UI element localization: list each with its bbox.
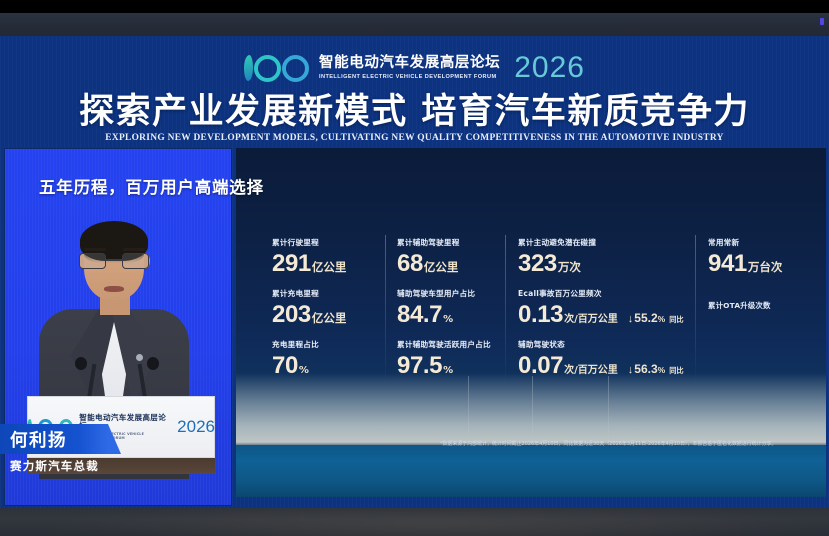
glasses-lens-left [79,253,106,269]
stat-unit: 亿公里 [312,262,347,274]
forum-logo-icon [244,55,309,82]
main-slogan-cn: 探索产业发展新模式 培育汽车新质竞争力 [0,92,829,132]
stat-unit: 亿公里 [424,262,459,274]
speaker-title: 赛力斯汽车总裁 [10,458,99,474]
stat-delta: ↓ 56.3 % 同比 [628,363,684,376]
stat-unit: 次/百万公里 [564,315,618,325]
stat-label: Ecall事故百万公里频次 [518,288,695,299]
stat-unit: 亿公里 [312,313,347,325]
slide-footnote: *数据来源于内部统计，统计时间截止2026年4月10日，同比数据为近30天（20… [440,440,776,447]
stat-item: Ecall事故百万公里频次 0.13 次/百万公里 ↓ 55.2 % 同比 [518,288,695,327]
stat-delta-value: 55.2 [634,312,657,324]
forum-name: 智能电动汽车发展高层论坛 INTELLIGENT ELECTRIC VEHICL… [319,56,500,80]
stat-number: 84.7 [397,303,442,327]
stat-number: 68 [397,252,423,276]
stat-number: 0.07 [518,354,563,378]
stat-delta-value: 56.3 [634,363,657,375]
stat-number: 203 [272,303,311,327]
stat-unit: 万台次 [748,262,783,274]
stats-column-1: 累计行驶里程 291 亿公里 累计充电里程 203 亿公里 充电里程占比 70 … [272,237,385,390]
top-black-bar [0,0,829,13]
stat-item: 累计行驶里程 291 亿公里 [272,237,385,276]
recording-dot-icon [820,18,824,25]
glasses-icon [79,253,149,269]
speaker-mouth [104,286,124,292]
stat-number: 291 [272,252,311,276]
forum-name-cn: 智能电动汽车发展高层论坛 [319,56,500,71]
microphone-head-right [147,357,159,370]
stat-number: 941 [708,252,747,276]
stat-label: 常用常新 [708,237,828,248]
stat-item: 辅助驾驶车型用户占比 84.7 % [397,288,505,327]
slide-horizon-sea [236,445,826,497]
stat-value: 97.5 % [397,354,505,378]
forum-year: 2026 [514,53,585,83]
stat-value: 68 亿公里 [397,252,505,276]
glasses-bridge [106,259,122,261]
stat-unit: % [443,315,453,325]
stats-grid: 累计行驶里程 291 亿公里 累计充电里程 203 亿公里 充电里程占比 70 … [272,237,828,390]
main-slogan-en: EXPLORING NEW DEVELOPMENT MODELS, CULTIV… [0,133,829,143]
stat-item: 充电里程占比 70 % [272,339,385,378]
speaker-name: 何利扬 [0,427,67,452]
stat-delta: ↓ 55.2 % 同比 [628,312,684,325]
bottom-dark-bar [0,508,829,536]
stat-item: 累计充电里程 203 亿公里 [272,288,385,327]
stat-unit: 万次 [558,262,581,274]
arrow-down-icon: ↓ [628,365,634,376]
stats-column-3: 累计主动避免潜在碰撞 323 万次 Ecall事故百万公里频次 0.13 次/百… [505,237,695,390]
stat-delta-compare: 同比 [669,316,683,323]
arrow-down-icon: ↓ [628,314,634,325]
stat-value: 291 亿公里 [272,252,385,276]
stat-value: 0.13 次/百万公里 ↓ 55.2 % 同比 [518,303,695,327]
stat-item: 辅助驾驶状态 0.07 次/百万公里 ↓ 56.3 % 同比 [518,339,695,378]
stats-column-4: 常用常新 941 万台次 累计OTA升级次数 [695,237,828,390]
event-header: 智能电动汽车发展高层论坛 INTELLIGENT ELECTRIC VEHICL… [0,44,829,92]
stat-delta-unit: % [658,366,666,375]
top-chrome-bar [0,13,829,36]
stat-value: 70 % [272,354,385,378]
stat-value: 941 万台次 [708,252,828,276]
stat-label: 累计辅助驾驶活跃用户占比 [397,339,505,350]
stat-item: 累计主动避免潜在碰撞 323 万次 [518,237,695,276]
stat-number: 323 [518,252,557,276]
microphone-head-left [75,357,87,370]
stat-item: 累计辅助驾驶活跃用户占比 97.5 % [397,339,505,378]
slide-title: 五年历程，百万用户高端选择 [39,174,264,198]
stat-label: 累计行驶里程 [272,237,385,248]
stat-value: 203 亿公里 [272,303,385,327]
stat-number: 97.5 [397,354,442,378]
stat-label: 累计主动避免潜在碰撞 [518,237,695,248]
stat-label: 辅助驾驶状态 [518,339,695,350]
speaker-nameplate: 何利扬 [0,424,108,454]
glasses-lens-right [122,253,149,269]
speaker-brow-right [123,248,145,251]
stat-sub-note: 累计OTA升级次数 [708,300,828,311]
stat-unit: % [299,366,309,376]
screen: 智能电动汽车发展高层论坛 INTELLIGENT ELECTRIC VEHICL… [0,0,829,536]
logo-ring-icon [254,55,281,82]
stat-label: 累计辅助驾驶里程 [397,237,505,248]
stats-column-2: 累计辅助驾驶里程 68 亿公里 辅助驾驶车型用户占比 84.7 % 累计辅助驾驶… [385,237,505,390]
stat-unit: 次/百万公里 [564,366,618,376]
stat-value: 84.7 % [397,303,505,327]
stat-number: 0.13 [518,303,563,327]
stat-label: 充电里程占比 [272,339,385,350]
forum-name-en: INTELLIGENT ELECTRIC VEHICLE DEVELOPMENT… [319,74,500,80]
podium-logo-year: 2026 [177,417,215,437]
speaker-lapel-pin [136,354,143,361]
stat-value: 323 万次 [518,252,695,276]
stat-delta-unit: % [658,315,666,324]
stat-unit: % [443,366,453,376]
logo-leaf-icon [244,55,253,81]
stat-label: 累计充电里程 [272,288,385,299]
logo-ring-icon [282,55,309,82]
stat-item: 累计辅助驾驶里程 68 亿公里 [397,237,505,276]
speaker-brow-left [84,248,106,251]
stat-delta-compare: 同比 [669,367,683,374]
stat-label: 辅助驾驶车型用户占比 [397,288,505,299]
stat-value: 0.07 次/百万公里 ↓ 56.3 % 同比 [518,354,695,378]
stat-item: 常用常新 941 万台次 累计OTA升级次数 [708,237,828,311]
stat-number: 70 [272,354,298,378]
